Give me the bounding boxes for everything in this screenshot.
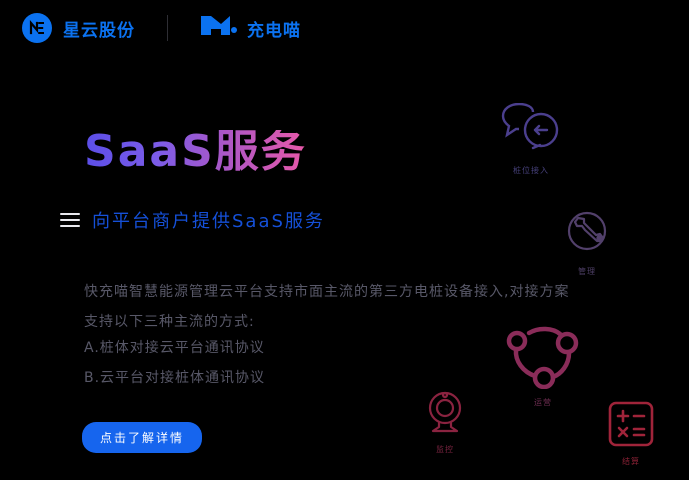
- decoration-item-access[interactable]: 桩位接入: [500, 103, 562, 176]
- calculator-icon: [607, 400, 655, 452]
- speech-bubbles-arrow-icon: [500, 103, 562, 161]
- hamburger-icon: [60, 213, 80, 227]
- decoration-item-manage[interactable]: 管理: [562, 208, 612, 277]
- decoration-label: 管理: [578, 266, 596, 277]
- decoration-label: 结算: [622, 456, 640, 467]
- share-network-icon: [503, 325, 583, 393]
- hero-method-list: A.桩体对接云平台通讯协议 B.云平台对接桩体通讯协议: [84, 333, 265, 393]
- decoration-label: 运营: [534, 397, 552, 408]
- wrench-circle-icon: [562, 208, 612, 262]
- decoration-item-monitor[interactable]: 监控: [425, 390, 465, 455]
- list-item: B.云平台对接桩体通讯协议: [84, 363, 265, 393]
- decoration-label: 桩位接入: [513, 165, 549, 176]
- list-item: A.桩体对接云平台通讯协议: [84, 333, 265, 363]
- learn-more-button[interactable]: 点击了解详情: [82, 422, 202, 453]
- decoration-label: 监控: [436, 444, 454, 455]
- decoration-item-settlement[interactable]: 结算: [607, 400, 655, 467]
- subtitle-row: 向平台商户提供SaaS服务: [60, 207, 325, 233]
- page-subtitle: 向平台商户提供SaaS服务: [92, 207, 325, 233]
- decoration-item-operate[interactable]: 运营: [503, 325, 583, 408]
- monitor-camera-icon: [425, 390, 465, 440]
- page-title: SaaS服务: [84, 130, 307, 174]
